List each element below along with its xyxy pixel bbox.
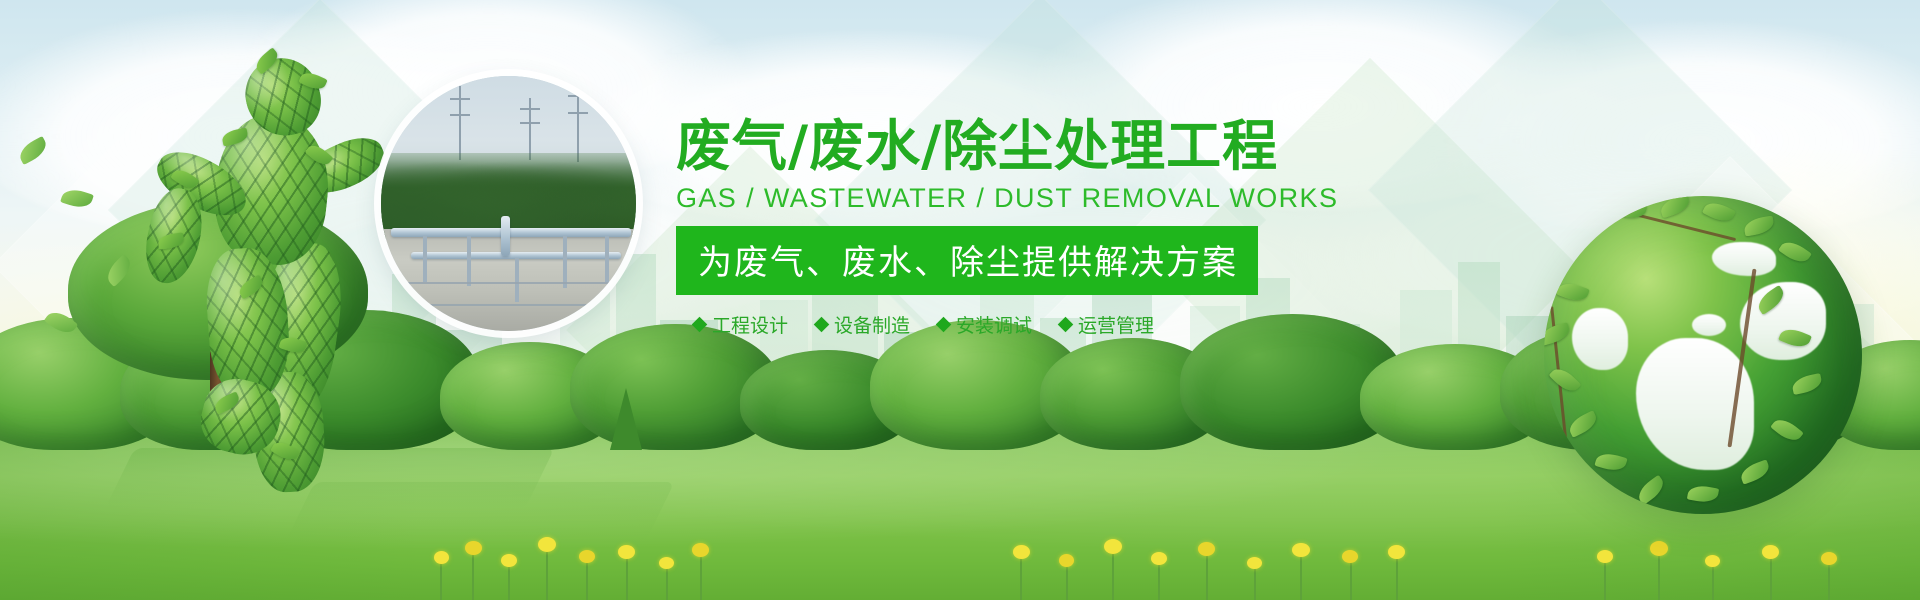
leaf-globe (1544, 196, 1862, 514)
yellow-flower-cluster (1000, 530, 1420, 600)
diamond-icon (1058, 317, 1074, 333)
page-title: 废气/废水/除尘处理工程 (676, 118, 1506, 174)
wastewater-plant-photo (381, 76, 636, 331)
conifer-tree (610, 388, 642, 450)
banner-copy-block: 废气/废水/除尘处理工程 GAS / WASTEWATER / DUST REM… (676, 118, 1506, 338)
service-bullet-list: 工程设计 设备制造 安装调试 运营管理 (676, 311, 1506, 338)
leaf-man-figure (150, 52, 400, 472)
subtitle-english: GAS / WASTEWATER / DUST REMOVAL WORKS (676, 183, 1506, 214)
eco-engineering-banner: 废气/废水/除尘处理工程 GAS / WASTEWATER / DUST REM… (0, 0, 1920, 600)
diamond-icon (814, 317, 830, 333)
bullet-label: 设备制造 (834, 311, 910, 338)
bullet-label: 工程设计 (712, 311, 788, 338)
bullet-item-3: 运营管理 (1060, 311, 1154, 338)
diamond-icon (936, 317, 952, 333)
bullet-item-2: 安装调试 (938, 311, 1032, 338)
tagline-bar: 为废气、废水、除尘提供解决方案 (676, 226, 1258, 295)
bullet-item-1: 设备制造 (816, 311, 910, 338)
diamond-icon (692, 317, 708, 333)
yellow-flower-cluster (420, 530, 720, 600)
bullet-item-0: 工程设计 (694, 311, 788, 338)
yellow-flower-cluster (1580, 530, 1880, 600)
bullet-label: 安装调试 (956, 311, 1032, 338)
bullet-label: 运营管理 (1078, 311, 1154, 338)
